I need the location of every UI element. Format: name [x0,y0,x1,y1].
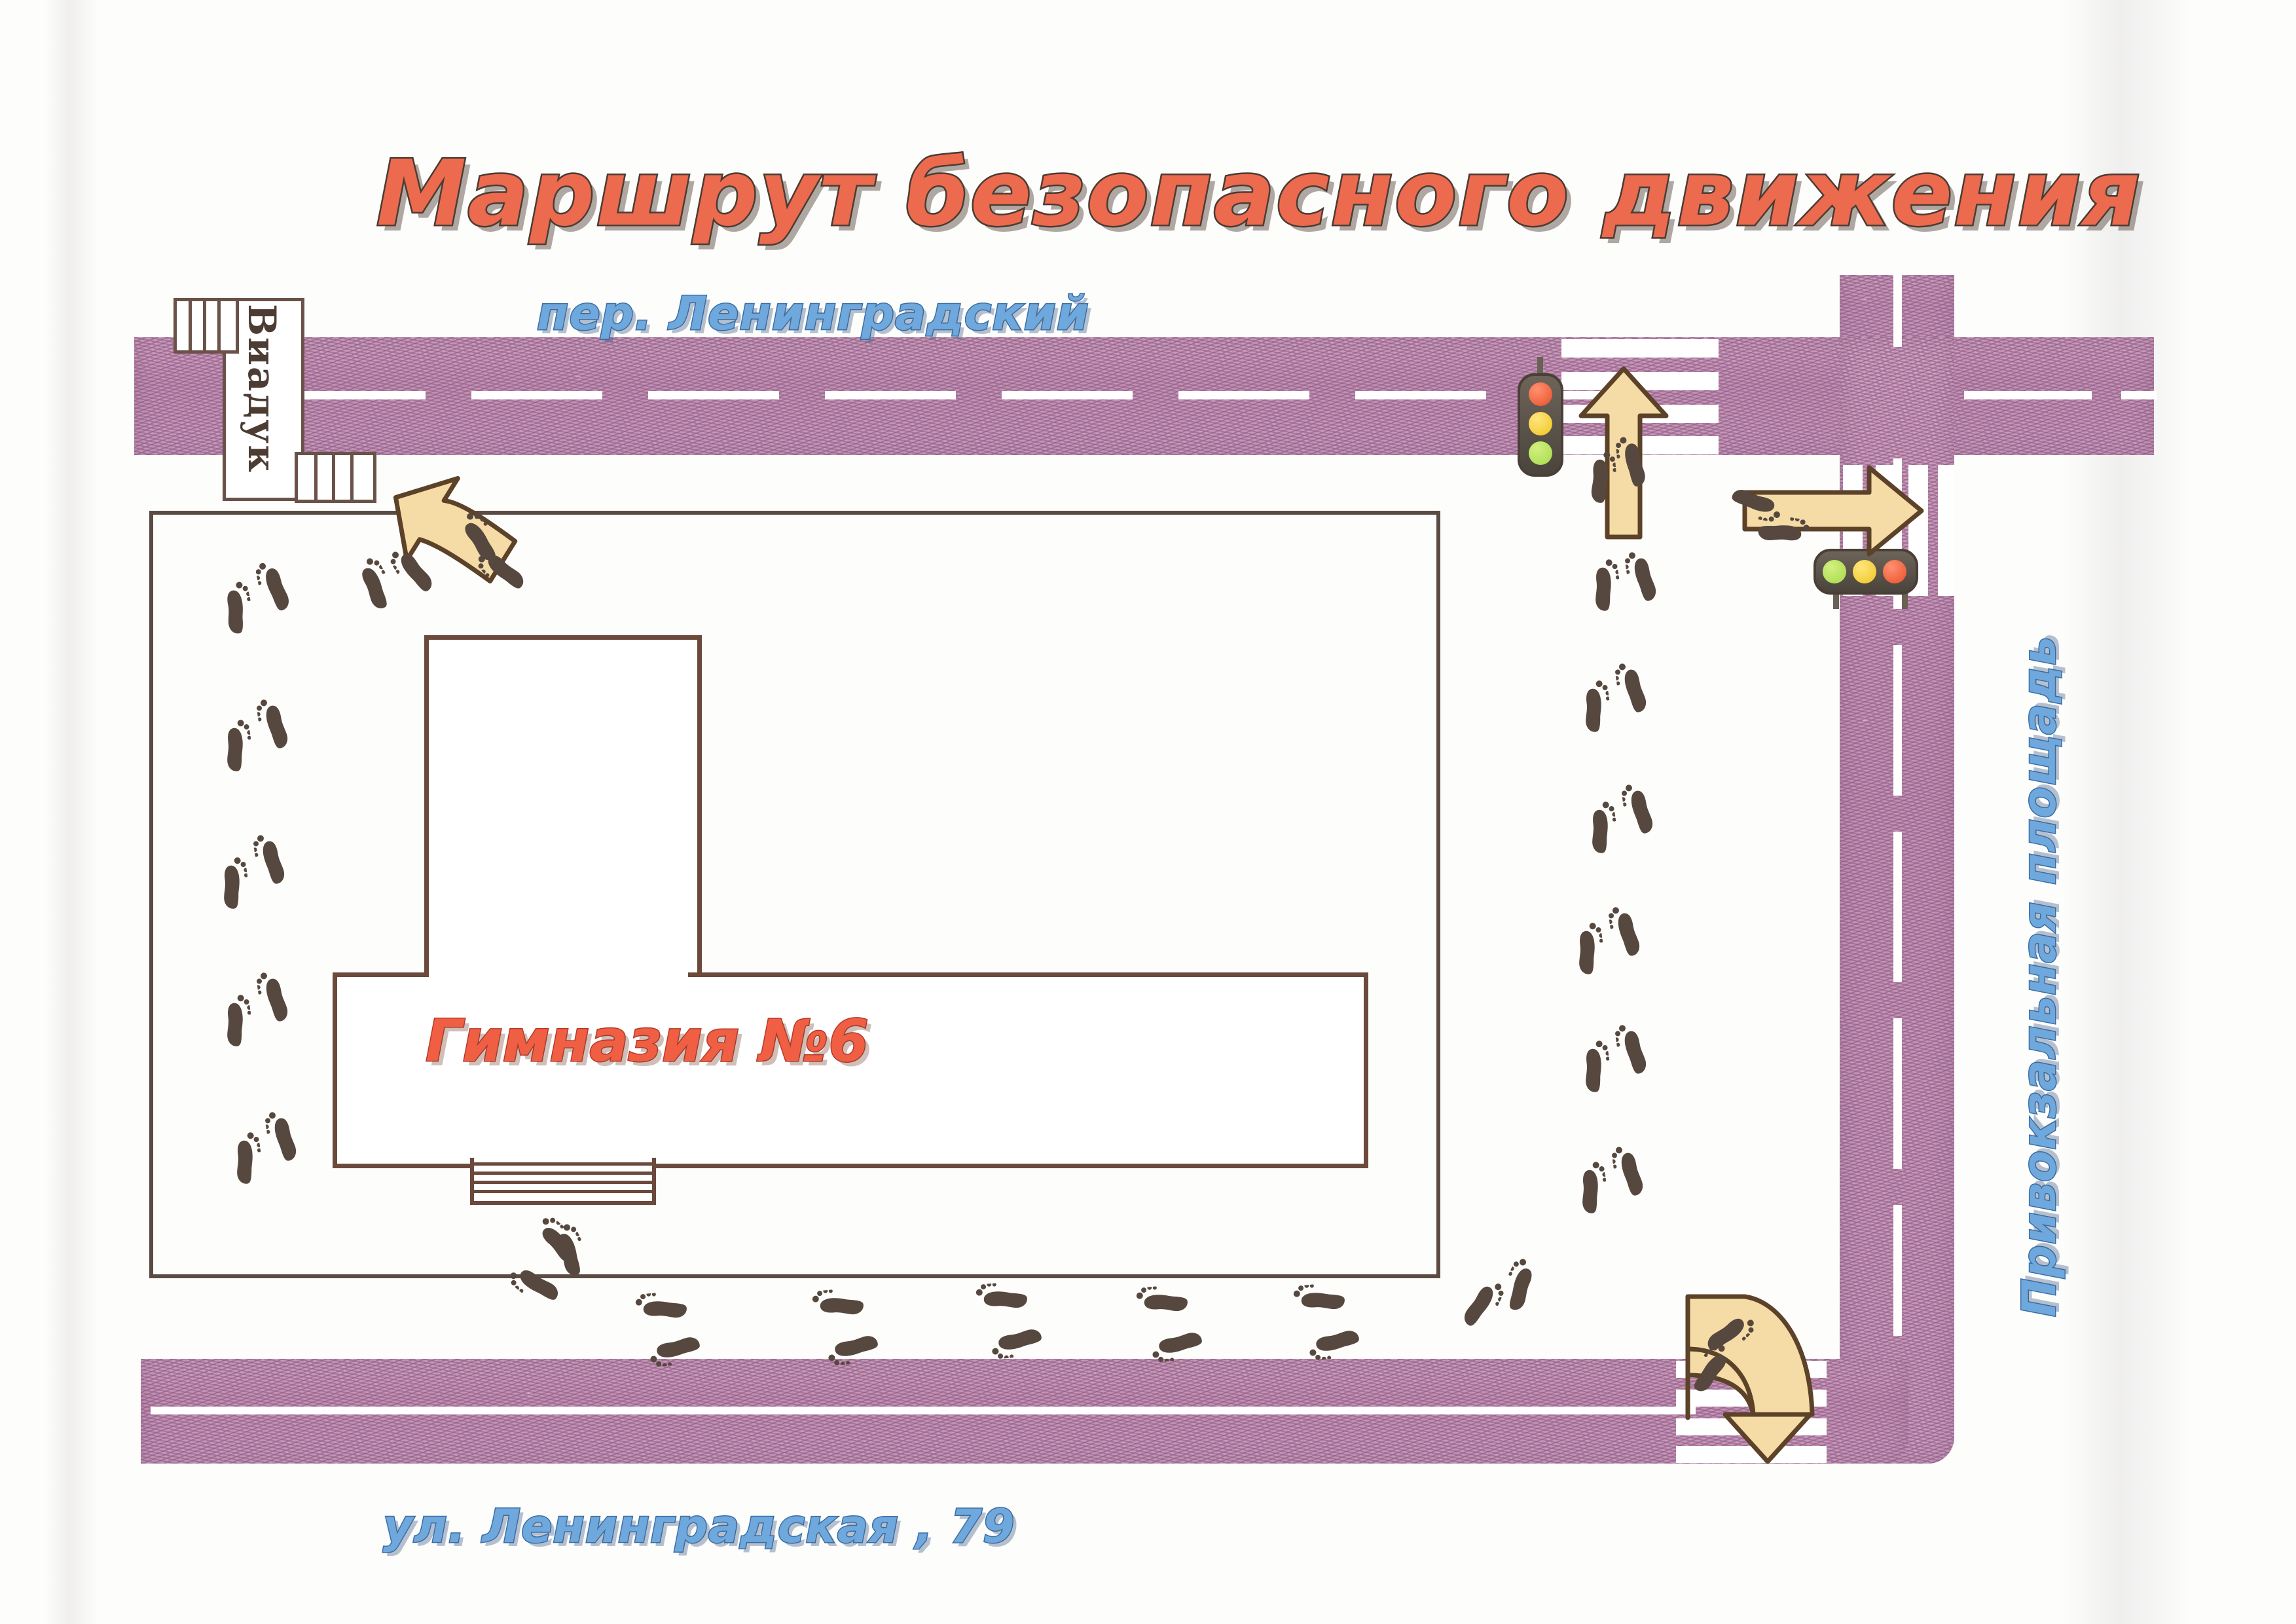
footprint [1129,1283,1192,1324]
footprint [1607,896,1650,961]
viaduct-label: Виадук [240,304,284,435]
traffic-lamp-green [1823,560,1846,583]
page-title: Маршрут безопасного движения [376,141,2141,246]
footprint [1620,774,1663,839]
viaduct-stairs-top [173,298,239,354]
street-label-right: Привокзальная площадь [2013,662,2066,1317]
lane-dash [1893,1018,1902,1169]
traffic-lamp-yellow [1853,560,1876,583]
footprint [819,1326,882,1367]
school-name-label: Гимназия №6 [426,1007,869,1075]
footprint [1578,444,1619,507]
traffic-light-vertical-top[interactable] [1518,373,1563,477]
footprint [1143,1323,1206,1363]
footprint [1613,653,1656,718]
building-join-patch [429,968,688,981]
lane-dash [825,391,956,399]
footprint [1495,1249,1552,1319]
traffic-lamp-green [1529,441,1552,465]
footprint [1571,673,1614,737]
traffic-lamp-red [1529,382,1552,406]
footprint [1610,1136,1653,1201]
lane-dash [2121,391,2157,399]
footprint [1571,1033,1614,1098]
footprint [1580,551,1624,616]
scan-fold-artifact-2 [46,0,98,1624]
footprint [805,1287,867,1327]
lane-center-line-bottom [151,1407,1696,1414]
safe-route-map-canvas: Виадук Гимназия №6 [0,0,2296,1624]
footprint [968,1280,1031,1321]
lane-dash [1355,391,1486,399]
footprint [1613,1014,1656,1079]
lane-dash [1002,391,1133,399]
footprint [1577,794,1620,858]
lane-dash [1893,832,1902,982]
footprint [1614,428,1655,490]
lane-dash [1964,391,2092,399]
footprint [641,1327,704,1368]
footprint [983,1319,1046,1360]
lane-dash [295,391,426,399]
lane-dash [648,391,779,399]
lane-dash [471,391,602,399]
school-building-wing-vertical [424,635,702,980]
crosswalk-stripe [1938,465,1954,596]
footprint [1623,542,1666,606]
lane-dash [1178,391,1309,399]
crosswalk-stripe [1561,339,1719,358]
footprint [1300,1321,1363,1361]
school-entrance-steps [470,1158,656,1205]
footprint [1567,1154,1611,1219]
street-label-top: пер. Ленинградский [537,287,1089,341]
lane-dash [1893,1205,1902,1336]
lane-center-line-vertical [1893,275,1902,347]
footprint [628,1290,691,1331]
lane-dash [1893,645,1902,796]
footprint [1286,1282,1349,1322]
traffic-lamp-red [1883,560,1906,583]
street-label-bottom: ул. Ленинградская , 79 [383,1500,1015,1553]
footprint [1564,915,1607,980]
traffic-lamp-yellow [1529,412,1552,435]
